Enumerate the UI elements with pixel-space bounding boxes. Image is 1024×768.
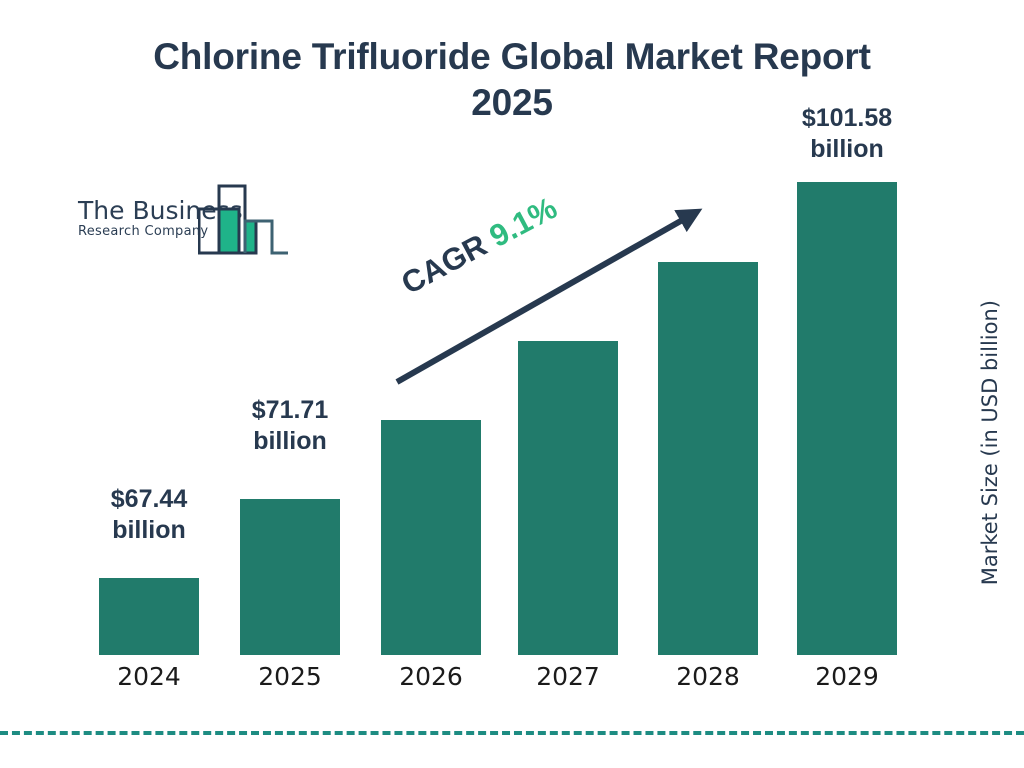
x-axis-label-2028: 2028 — [638, 662, 778, 691]
x-axis-label-2026: 2026 — [361, 662, 501, 691]
bar-value-2024-amount: $67.44 — [79, 484, 219, 515]
x-axis-label-2024: 2024 — [79, 662, 219, 691]
footer-divider — [0, 731, 1024, 735]
bar-2029 — [797, 182, 897, 655]
y-axis-title: Market Size (in USD billion) — [978, 300, 1008, 585]
bar-value-2029: $101.58 billion — [777, 103, 917, 165]
bar-value-2029-unit: billion — [777, 134, 917, 165]
bar-2026 — [381, 420, 481, 655]
x-axis-label-2025: 2025 — [220, 662, 360, 691]
x-axis-label-2029: 2029 — [777, 662, 917, 691]
bar-value-2025-unit: billion — [220, 426, 360, 457]
bar-value-2024: $67.44 billion — [79, 484, 219, 546]
bar-value-2025: $71.71 billion — [220, 395, 360, 457]
bar-2025 — [240, 499, 340, 655]
chart-page: Chlorine Trifluoride Global Market Repor… — [0, 0, 1024, 768]
bar-value-2029-amount: $101.58 — [777, 103, 917, 134]
bar-2024 — [99, 578, 199, 655]
bar-2028 — [658, 262, 758, 655]
bar-value-2025-amount: $71.71 — [220, 395, 360, 426]
bar-2027 — [518, 341, 618, 655]
bar-value-2024-unit: billion — [79, 515, 219, 546]
bar-chart-plot: $67.44 billion $71.71 billion $101.58 bi… — [0, 0, 1024, 768]
x-axis-label-2027: 2027 — [498, 662, 638, 691]
